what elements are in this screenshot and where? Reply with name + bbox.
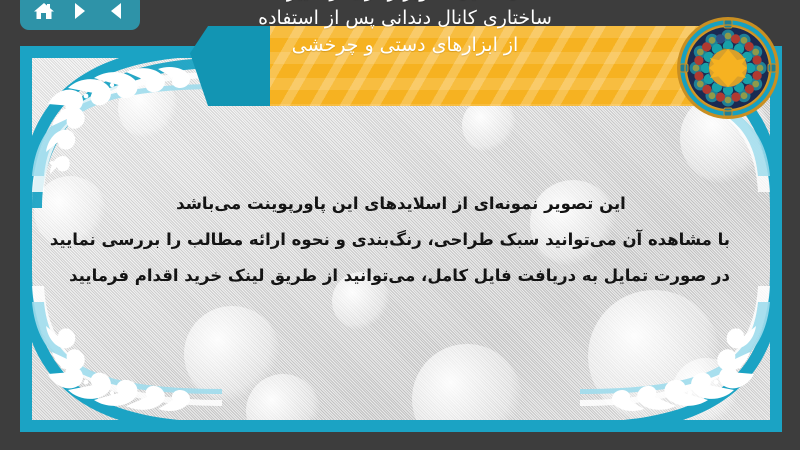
slide-body-text: این تصویر نمونه‌ای از اسلایدهای این پاور… bbox=[72, 186, 730, 294]
banner-stripe-pattern bbox=[270, 26, 710, 106]
navigation-toolbar[interactable] bbox=[20, 0, 140, 30]
bokeh-circle bbox=[246, 374, 320, 420]
back-arrow-icon[interactable] bbox=[101, 0, 131, 24]
body-line: در صورت تمایل به دریافت فایل کامل، می‌تو… bbox=[72, 258, 730, 294]
bokeh-circle bbox=[588, 290, 720, 420]
bokeh-circle bbox=[672, 358, 740, 420]
bokeh-circle bbox=[184, 306, 280, 402]
viewer-background-bottom bbox=[0, 432, 800, 450]
body-line: با مشاهده آن می‌توانید سبک طراحی، رنگ‌بن… bbox=[72, 222, 730, 258]
bokeh-circle bbox=[118, 78, 178, 138]
slide-title-banner bbox=[270, 26, 710, 106]
slide-viewer: این تصویر نمونه‌ای از اسلایدهای این پاور… bbox=[0, 0, 800, 450]
viewer-background-right bbox=[782, 0, 800, 450]
body-line: این تصویر نمونه‌ای از اسلایدهای این پاور… bbox=[72, 186, 730, 222]
bokeh-circle bbox=[412, 344, 522, 420]
viewer-background-left bbox=[0, 0, 20, 450]
slide-canvas: این تصویر نمونه‌ای از اسلایدهای این پاور… bbox=[32, 58, 770, 420]
home-icon[interactable] bbox=[29, 0, 59, 24]
forward-arrow-icon[interactable] bbox=[65, 0, 95, 24]
persian-medallion-ornament bbox=[676, 16, 780, 120]
bokeh-circle bbox=[462, 98, 516, 152]
